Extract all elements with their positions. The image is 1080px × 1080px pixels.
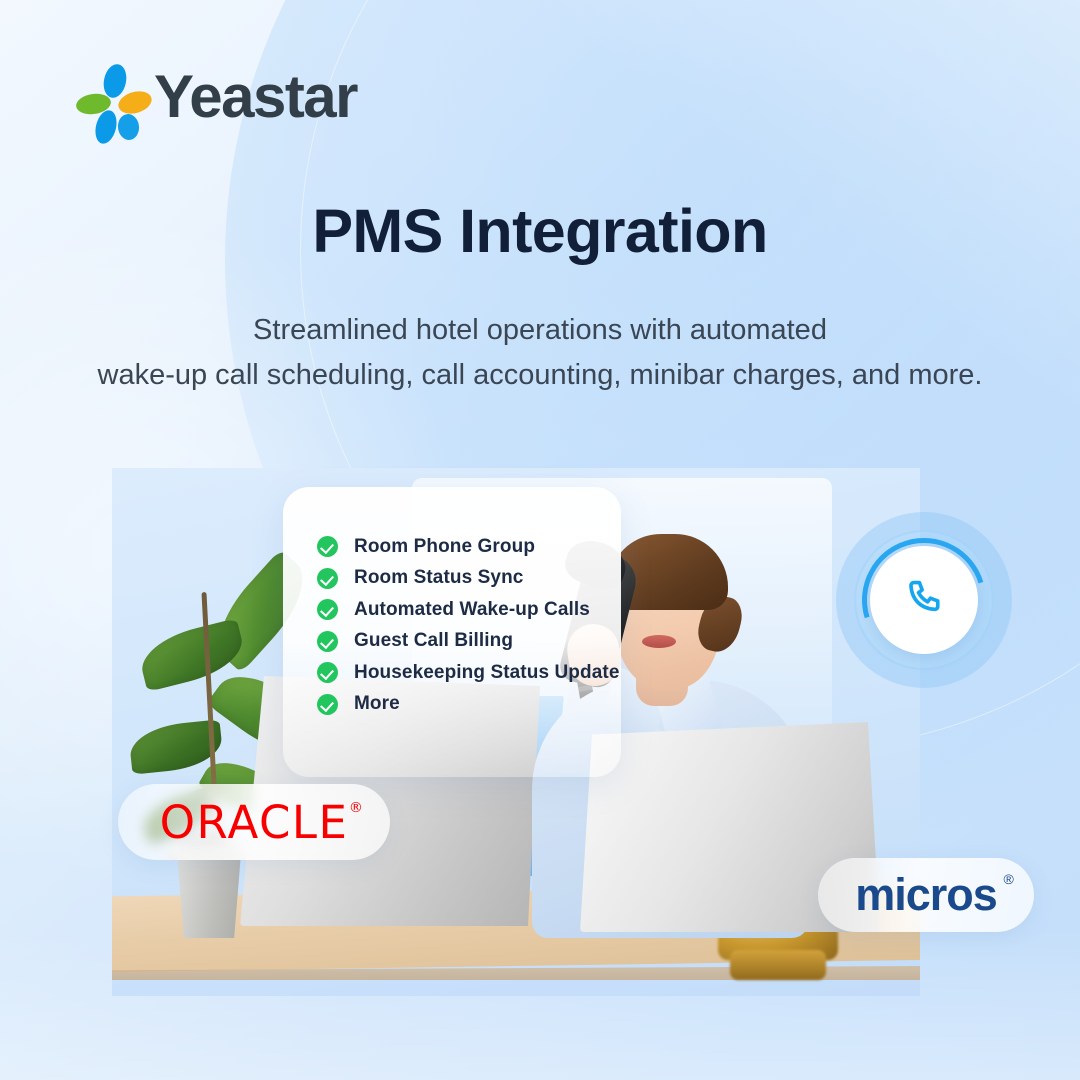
page-title: PMS Integration bbox=[0, 196, 1080, 266]
feature-list-card: Room Phone Group Room Status Sync Automa… bbox=[283, 487, 621, 777]
phone-badge[interactable] bbox=[836, 512, 1012, 688]
list-item-label: More bbox=[354, 693, 400, 715]
check-circle-icon bbox=[317, 568, 338, 589]
brand-name: Yeastar bbox=[154, 67, 357, 127]
list-item[interactable]: Automated Wake-up Calls bbox=[317, 594, 619, 626]
phone-badge-core bbox=[870, 546, 978, 654]
check-circle-icon bbox=[317, 631, 338, 652]
promo-graphic: Yeastar PMS Integration Streamlined hote… bbox=[0, 0, 1080, 1080]
person-lips bbox=[642, 635, 676, 648]
bell-base bbox=[730, 950, 826, 980]
list-item-label: Guest Call Billing bbox=[354, 630, 513, 652]
list-item-label: Room Phone Group bbox=[354, 536, 535, 558]
subtitle-line-2: wake-up call scheduling, call accounting… bbox=[0, 353, 1080, 398]
partner-logo-micros[interactable]: micros® bbox=[818, 858, 1034, 932]
yeastar-pinwheel-logo-icon bbox=[78, 64, 140, 130]
partner-name-micros: micros bbox=[855, 869, 997, 920]
partner-logo-oracle[interactable]: ORACLE® bbox=[118, 784, 390, 860]
list-item[interactable]: More bbox=[317, 689, 619, 721]
phone-handset-icon bbox=[902, 578, 946, 622]
check-circle-icon bbox=[317, 599, 338, 620]
check-circle-icon bbox=[317, 694, 338, 715]
registered-mark-icon: ® bbox=[1003, 871, 1012, 887]
logo-petal-bottom-right bbox=[117, 113, 141, 141]
brand-logo[interactable]: Yeastar bbox=[78, 64, 357, 130]
feature-list: Room Phone Group Room Status Sync Automa… bbox=[317, 531, 619, 720]
check-circle-icon bbox=[317, 662, 338, 683]
list-item-label: Housekeeping Status Update bbox=[354, 662, 619, 684]
page-subtitle: Streamlined hotel operations with automa… bbox=[0, 308, 1080, 398]
list-item[interactable]: Guest Call Billing bbox=[317, 626, 619, 658]
registered-mark-icon: ® bbox=[349, 800, 365, 816]
list-item-label: Room Status Sync bbox=[354, 567, 523, 589]
partner-name-oracle: ORACLE bbox=[160, 796, 349, 849]
list-item-label: Automated Wake-up Calls bbox=[354, 599, 590, 621]
list-item[interactable]: Room Status Sync bbox=[317, 563, 619, 595]
subtitle-line-1: Streamlined hotel operations with automa… bbox=[0, 308, 1080, 353]
check-circle-icon bbox=[317, 536, 338, 557]
list-item[interactable]: Room Phone Group bbox=[317, 531, 619, 563]
list-item[interactable]: Housekeeping Status Update bbox=[317, 657, 619, 689]
logo-petal-bottom-left bbox=[92, 108, 120, 146]
